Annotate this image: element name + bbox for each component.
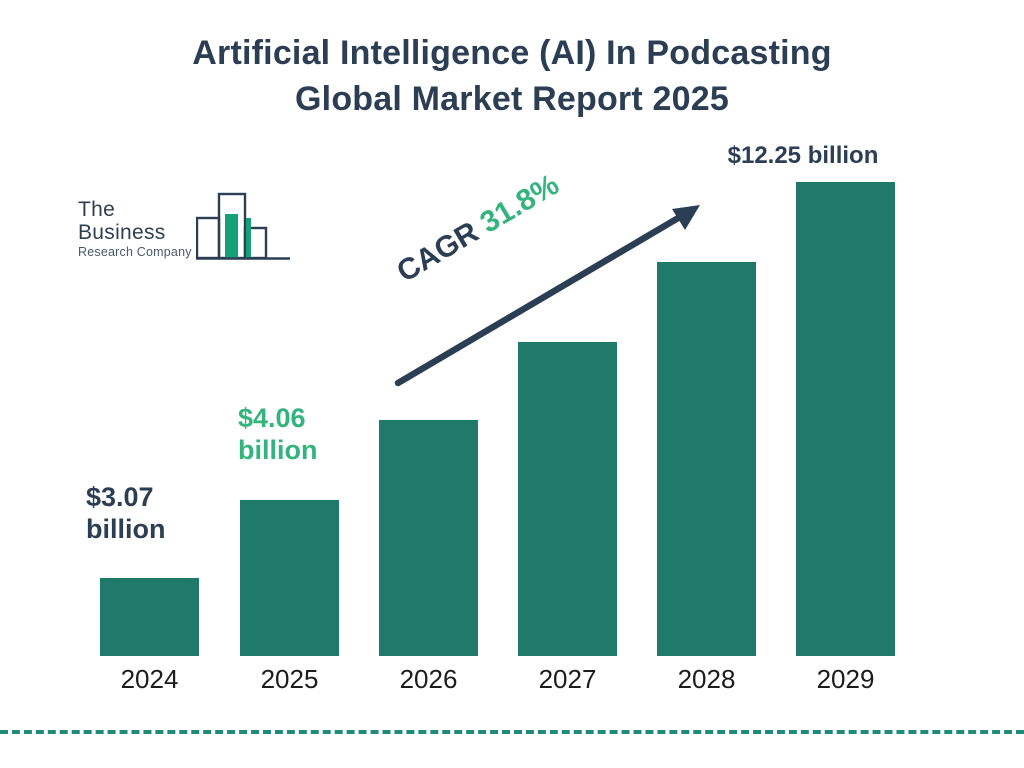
value-label-2029: $12.25 billion <box>688 142 918 170</box>
x-axis-label-2029: 2029 <box>796 662 895 696</box>
value-label-2025-unit: billion <box>238 435 368 467</box>
company-logo: The Business Research Company <box>78 188 290 260</box>
bar-2026 <box>379 420 478 656</box>
chart-canvas: Artificial Intelligence (AI) In Podcasti… <box>0 0 1024 768</box>
bar-2025 <box>240 500 339 656</box>
x-axis-label-2024: 2024 <box>100 662 199 696</box>
value-label-2024: $3.07 billion <box>86 482 212 546</box>
x-axis-label-2026: 2026 <box>379 662 478 696</box>
footer-divider <box>0 730 1024 734</box>
bar-2029 <box>796 182 895 656</box>
bar-2024 <box>100 578 199 656</box>
page-title-line-2: Global Market Report 2025 <box>0 76 1024 122</box>
x-axis-label-2025: 2025 <box>240 662 339 696</box>
growth-arrow-icon <box>380 185 720 400</box>
value-label-2024-amount: $3.07 <box>86 482 212 514</box>
value-label-2025: $4.06 billion <box>238 403 368 467</box>
page-title-line-1: Artificial Intelligence (AI) In Podcasti… <box>0 30 1024 76</box>
company-logo-name-line-2: Research Company <box>78 244 208 260</box>
value-label-2024-unit: billion <box>86 514 212 546</box>
page-title: Artificial Intelligence (AI) In Podcasti… <box>0 30 1024 122</box>
x-axis-label-2028: 2028 <box>657 662 756 696</box>
value-label-2025-amount: $4.06 <box>238 403 368 435</box>
bar-chart-logo-icon <box>196 188 290 260</box>
company-logo-text: The Business Research Company <box>78 198 208 260</box>
company-logo-name-line-1: The Business <box>78 198 208 244</box>
x-axis-label-2027: 2027 <box>518 662 617 696</box>
